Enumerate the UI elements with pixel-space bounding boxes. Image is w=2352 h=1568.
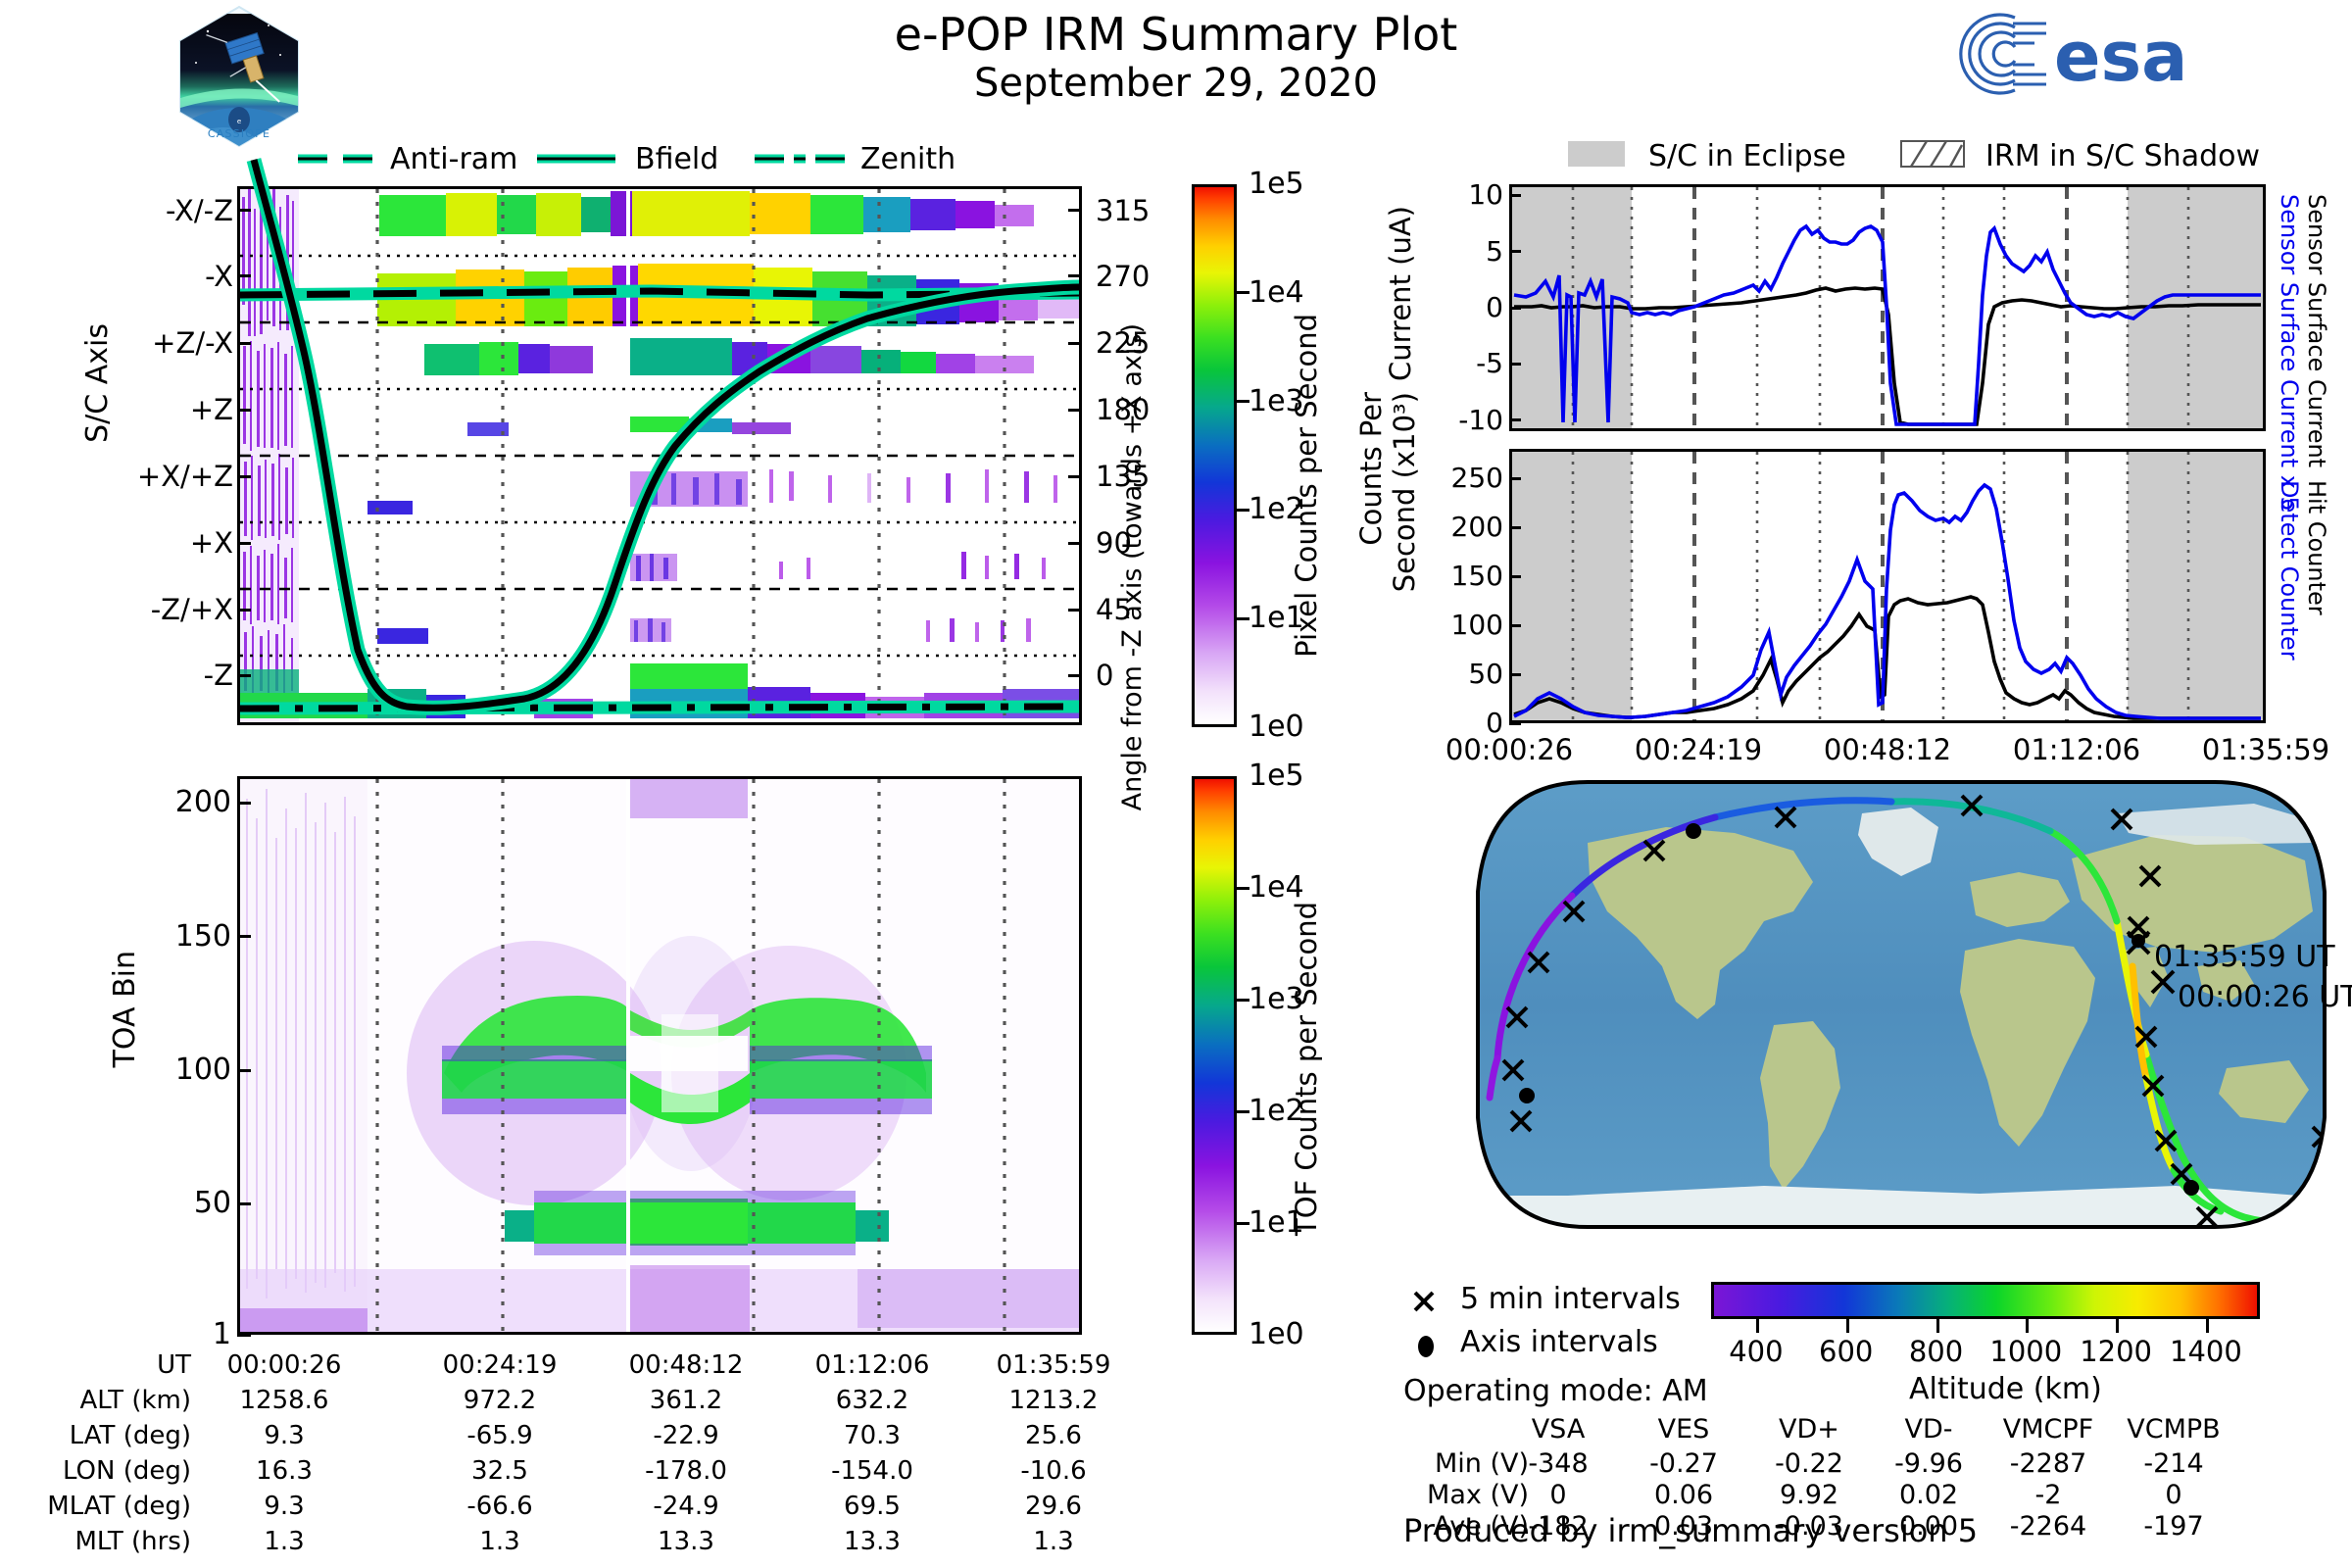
voltage-cell-r0-c5: -214 xyxy=(2115,1448,2232,1479)
tof-cb-tick-5: 1e0 xyxy=(1249,1317,1304,1351)
pixel-cb-tick-1: 1e4 xyxy=(1249,275,1304,310)
current-ylabel: Current (uA) xyxy=(1384,206,1417,381)
pixel-cb-tick-mark-2 xyxy=(1237,400,1249,403)
eph-cell-r1-c1: 972.2 xyxy=(412,1386,588,1415)
sc-axis-angle-tick-7: 0 xyxy=(1096,659,1113,692)
voltage-cell-r0-c3: -9.96 xyxy=(1870,1448,1987,1479)
toa-ytick-mark-4 xyxy=(237,1334,251,1337)
voltage-cell-r1-c4: -2 xyxy=(1989,1480,2107,1510)
eph-cell-r1-c3: 632.2 xyxy=(784,1386,960,1415)
sc-axis-ytick-mark-0 xyxy=(237,209,251,212)
eph-cell-r5-c1: 1.3 xyxy=(412,1527,588,1556)
altitude-tick-mark-3 xyxy=(2026,1319,2029,1333)
eph-cell-r0-c1: 00:24:19 xyxy=(412,1350,588,1380)
eph-cell-r4-c2: -24.9 xyxy=(598,1492,774,1521)
sc-axis-ytick-5: +X xyxy=(190,526,233,560)
eph-cell-r5-c3: 13.3 xyxy=(784,1527,960,1556)
eph-cell-r0-c2: 00:48:12 xyxy=(598,1350,774,1380)
legend-label-eclipse: S/C in Eclipse xyxy=(1648,139,1846,173)
pixel-cb-tick-5: 1e0 xyxy=(1249,710,1304,744)
sc-axis-angle-tick-mark-7 xyxy=(1068,674,1082,677)
toa-ytick-2: 100 xyxy=(175,1053,231,1087)
eph-cell-r2-c2: -22.9 xyxy=(598,1421,774,1450)
eph-cell-r1-c0: 1258.6 xyxy=(196,1386,372,1415)
legend-sc-axis xyxy=(294,142,902,175)
counts-xtick-1: 00:24:19 xyxy=(1610,733,1787,766)
pixel-counts-colorbar-label: Pixel Counts per Second xyxy=(1290,314,1323,658)
counts-ytick-mark-1 xyxy=(1509,526,1521,529)
voltage-col-header-1: VES xyxy=(1625,1414,1742,1445)
altitude-tick-1: 600 xyxy=(1797,1335,1895,1368)
eph-row-label-3: LON (deg) xyxy=(0,1456,191,1486)
sc-axis-ytick-mark-7 xyxy=(237,674,251,677)
tof-cb-tick-0: 1e5 xyxy=(1249,759,1304,793)
toa-ytick-0: 200 xyxy=(175,785,231,819)
footer-produced-by: Produced by irm_summary version 5 xyxy=(1403,1512,1978,1549)
eph-cell-r3-c4: -10.6 xyxy=(965,1456,1142,1486)
counts-ytick-1: 200 xyxy=(1451,511,1503,543)
altitude-tick-mark-5 xyxy=(2206,1319,2209,1333)
map-annotation-start: 00:00:26 UT xyxy=(2178,980,2352,1014)
voltage-cell-r0-c1: -0.27 xyxy=(1625,1448,1742,1479)
sc-axis-ytick-0: -X/-Z xyxy=(166,194,233,227)
map-legend-label-axis: Axis intervals xyxy=(1460,1325,1658,1359)
toa-ytick-mark-0 xyxy=(237,802,251,805)
sc-axis-ytick-3: +Z xyxy=(190,393,233,426)
toa-bin-plot-area[interactable] xyxy=(237,776,1082,1335)
voltage-cell-r0-c4: -2287 xyxy=(1989,1448,2107,1479)
toa-ytick-mark-1 xyxy=(237,935,251,938)
sc-axis-ytick-mark-4 xyxy=(237,475,251,478)
voltage-cell-r0-c2: -0.22 xyxy=(1750,1448,1868,1479)
pixel-cb-tick-0: 1e5 xyxy=(1249,167,1304,201)
counts-ytick-mark-5 xyxy=(1509,722,1521,725)
sc-axis-angle-tick-mark-1 xyxy=(1068,274,1082,277)
sc-axis-ytick-6: -Z/+X xyxy=(151,593,233,626)
sc-axis-angle-tick-0: 315 xyxy=(1096,194,1150,227)
sc-axis-ytick-4: +X/+Z xyxy=(137,460,233,493)
voltage-cell-r1-c3: 0.02 xyxy=(1870,1480,1987,1510)
eph-row-label-1: ALT (km) xyxy=(0,1386,191,1415)
current-ytick-3: -5 xyxy=(1476,347,1503,379)
tof-cb-tick-1: 1e4 xyxy=(1249,870,1304,905)
voltage-col-header-5: VCMPB xyxy=(2115,1414,2232,1445)
toa-ytick-mark-3 xyxy=(237,1202,251,1205)
sc-axis-angle-tick-mark-6 xyxy=(1068,609,1082,612)
legend-shadow-hatch xyxy=(1901,139,1966,169)
legend-label-zenith: Zenith xyxy=(860,142,955,176)
altitude-tick-mark-1 xyxy=(1846,1319,1849,1333)
toa-ytick-mark-2 xyxy=(237,1069,251,1072)
current-ytick-4: -10 xyxy=(1458,404,1503,436)
sc-axis-ytick-mark-6 xyxy=(237,609,251,612)
altitude-colorbar xyxy=(1711,1282,2260,1319)
voltage-col-header-0: VSA xyxy=(1499,1414,1617,1445)
legend-label-bfield: Bfield xyxy=(635,142,718,176)
pixel-cb-tick-mark-1 xyxy=(1237,291,1249,294)
counts-xtick-2: 00:48:12 xyxy=(1799,733,1976,766)
toa-bin-ylabel: TOA Bin xyxy=(108,951,142,1067)
current-ytick-2: 0 xyxy=(1486,291,1503,323)
counts-right-label-black: Hit Counter xyxy=(2303,480,2330,615)
voltage-cell-r2-c5: -197 xyxy=(2115,1511,2232,1542)
current-ytick-mark-4 xyxy=(1509,418,1521,421)
counts-xtick-0: 00:00:26 xyxy=(1421,733,1597,766)
toa-ytick-3: 50 xyxy=(194,1186,231,1220)
counts-ylabel-line1: Counts Per xyxy=(1354,392,1388,546)
altitude-tick-mark-4 xyxy=(2116,1319,2119,1333)
counts-xtick-4: 01:35:59 xyxy=(2178,733,2352,766)
sc-axis-angle-tick-mark-3 xyxy=(1068,409,1082,412)
tof-cb-tick-mark-3 xyxy=(1237,1110,1249,1113)
eph-row-label-5: MLT (hrs) xyxy=(0,1527,191,1556)
tof-cb-tick-mark-4 xyxy=(1237,1222,1249,1225)
altitude-tick-2: 800 xyxy=(1887,1335,1985,1368)
eph-cell-r2-c0: 9.3 xyxy=(196,1421,372,1450)
eph-cell-r0-c0: 00:00:26 xyxy=(196,1350,372,1380)
voltage-row-label-1: Max (V) xyxy=(1313,1480,1529,1510)
counts-ytick-mark-0 xyxy=(1509,477,1521,480)
altitude-tick-mark-0 xyxy=(1756,1319,1759,1333)
sc-axis-angle-tick-mark-4 xyxy=(1068,475,1082,478)
eph-cell-r5-c2: 13.3 xyxy=(598,1527,774,1556)
counts-ytick-2: 150 xyxy=(1451,560,1503,592)
eph-cell-r3-c0: 16.3 xyxy=(196,1456,372,1486)
current-plot-area[interactable] xyxy=(1509,184,2266,431)
svg-text:e: e xyxy=(237,118,241,125)
eph-cell-r0-c4: 01:35:59 xyxy=(965,1350,1142,1380)
eph-cell-r4-c0: 9.3 xyxy=(196,1492,372,1521)
sc-axis-ytick-mark-1 xyxy=(237,274,251,277)
overlay-zenith xyxy=(240,707,1079,709)
eph-cell-r5-c0: 1.3 xyxy=(196,1527,372,1556)
eph-cell-r5-c4: 1.3 xyxy=(965,1527,1142,1556)
voltage-col-header-2: VD+ xyxy=(1750,1414,1868,1445)
counts-ytick-mark-2 xyxy=(1509,575,1521,578)
altitude-colorbar-label: Altitude (km) xyxy=(1909,1372,2102,1406)
voltage-col-header-4: VMCPF xyxy=(1989,1414,2107,1445)
sc-axis-angle-tick-mark-2 xyxy=(1068,342,1082,345)
esa-agency-logo: esa xyxy=(1970,10,2244,98)
eph-cell-r4-c1: -66.6 xyxy=(412,1492,588,1521)
tof-cb-tick-mark-2 xyxy=(1237,999,1249,1002)
sc-axis-plot-area[interactable] xyxy=(237,186,1082,725)
counts-ytick-3: 100 xyxy=(1451,609,1503,641)
counts-ytick-mark-3 xyxy=(1509,624,1521,627)
counts-ytick-4: 50 xyxy=(1468,658,1503,690)
altitude-tick-4: 1200 xyxy=(2067,1335,2165,1368)
current-ytick-mark-0 xyxy=(1509,194,1521,197)
pixel-cb-tick-mark-3 xyxy=(1237,509,1249,512)
map-legend-label-5min: 5 min intervals xyxy=(1460,1282,1681,1316)
map-marker-legend-dot xyxy=(1409,1329,1445,1362)
altitude-tick-3: 1000 xyxy=(1977,1335,2075,1368)
eph-cell-r3-c3: -154.0 xyxy=(784,1456,960,1486)
counts-plot-area[interactable] xyxy=(1509,449,2266,723)
current-ytick-mark-1 xyxy=(1509,250,1521,253)
voltage-row-label-0: Min (V) xyxy=(1313,1448,1529,1479)
sc-axis-ytick-mark-2 xyxy=(237,342,251,345)
sc-axis-angle-tick-mark-0 xyxy=(1068,209,1082,212)
map-marker-legend xyxy=(1407,1284,1446,1317)
eph-cell-r1-c2: 361.2 xyxy=(598,1386,774,1415)
current-right-label-black: Sensor Surface Current xyxy=(2303,194,2330,467)
sc-axis-ytick-1: -X xyxy=(205,260,233,293)
voltage-col-header-3: VD- xyxy=(1870,1414,1987,1445)
eph-cell-r2-c4: 25.6 xyxy=(965,1421,1142,1450)
altitude-tick-5: 1400 xyxy=(2157,1335,2255,1368)
map-annotation-end: 01:35:59 UT xyxy=(2154,940,2335,974)
voltage-cell-r0-c0: -348 xyxy=(1499,1448,1617,1479)
voltage-cell-r1-c2: 9.92 xyxy=(1750,1480,1868,1510)
voltage-cell-r1-c0: 0 xyxy=(1499,1480,1617,1510)
voltage-cell-r1-c5: 0 xyxy=(2115,1480,2232,1510)
legend-eclipse xyxy=(1568,139,1627,169)
sc-axis-ytick-mark-5 xyxy=(237,542,251,545)
sc-axis-ytick-7: -Z xyxy=(204,659,233,692)
cassiope-mission-logo: e CASSIOPE xyxy=(174,4,304,149)
current-ytick-mark-2 xyxy=(1509,307,1521,310)
counts-right-label-blue: Detect Counter xyxy=(2276,480,2303,661)
current-ytick-1: 5 xyxy=(1486,235,1503,268)
toa-ytick-4: 1 xyxy=(213,1317,231,1351)
legend-label-irm-shadow: IRM in S/C Shadow xyxy=(1985,139,2260,173)
sc-axis-ytick-mark-3 xyxy=(237,409,251,412)
voltage-cell-r2-c4: -2264 xyxy=(1989,1511,2107,1542)
tof-counts-colorbar xyxy=(1192,776,1237,1335)
eph-cell-r3-c1: 32.5 xyxy=(412,1456,588,1486)
eph-row-label-0: UT xyxy=(0,1350,191,1380)
sc-axis-right-ylabel: Angle from -Z axis (towards +X axis) xyxy=(1117,323,1148,810)
altitude-tick-0: 400 xyxy=(1707,1335,1805,1368)
tof-counts-colorbar-label: TOF Counts per Second xyxy=(1290,902,1323,1236)
counts-ylabel: Counts Per Second (x10³) xyxy=(1354,392,1394,686)
pixel-counts-colorbar xyxy=(1192,184,1237,727)
sc-axis-angle-tick-mark-5 xyxy=(1068,542,1082,545)
voltage-cell-r1-c1: 0.06 xyxy=(1625,1480,1742,1510)
sc-axis-ytick-2: +Z/-X xyxy=(152,326,233,360)
eph-cell-r0-c3: 01:12:06 xyxy=(784,1350,960,1380)
sc-axis-ylabel: S/C Axis xyxy=(80,323,115,443)
pixel-cb-tick-mark-4 xyxy=(1237,617,1249,620)
counts-ytick-mark-4 xyxy=(1509,673,1521,676)
counts-ylabel-line2: Second (x10³) xyxy=(1388,392,1421,592)
legend-label-anti-ram: Anti-ram xyxy=(390,142,517,176)
eph-cell-r2-c3: 70.3 xyxy=(784,1421,960,1450)
toa-ytick-1: 150 xyxy=(175,919,231,954)
mission-logo-label: CASSIOPE xyxy=(208,127,270,140)
tof-cb-tick-mark-1 xyxy=(1237,887,1249,890)
current-ytick-0: 10 xyxy=(1468,178,1503,211)
eph-cell-r2-c1: -65.9 xyxy=(412,1421,588,1450)
eph-cell-r4-c3: 69.5 xyxy=(784,1492,960,1521)
eph-cell-r3-c2: -178.0 xyxy=(598,1456,774,1486)
eph-row-label-4: MLAT (deg) xyxy=(0,1492,191,1521)
eph-row-label-2: LAT (deg) xyxy=(0,1421,191,1450)
counts-ytick-0: 250 xyxy=(1451,462,1503,494)
sc-axis-angle-tick-1: 270 xyxy=(1096,260,1150,293)
counts-xtick-3: 01:12:06 xyxy=(1988,733,2165,766)
eph-cell-r1-c4: 1213.2 xyxy=(965,1386,1142,1415)
current-right-label-blue: Sensor Surface Current x 5 xyxy=(2276,194,2303,512)
esa-logo-text: esa xyxy=(2054,17,2187,97)
altitude-tick-mark-2 xyxy=(1936,1319,1939,1333)
current-ytick-mark-3 xyxy=(1509,363,1521,366)
eph-cell-r4-c4: 29.6 xyxy=(965,1492,1142,1521)
operating-mode-label: Operating mode: AM xyxy=(1403,1374,1708,1408)
